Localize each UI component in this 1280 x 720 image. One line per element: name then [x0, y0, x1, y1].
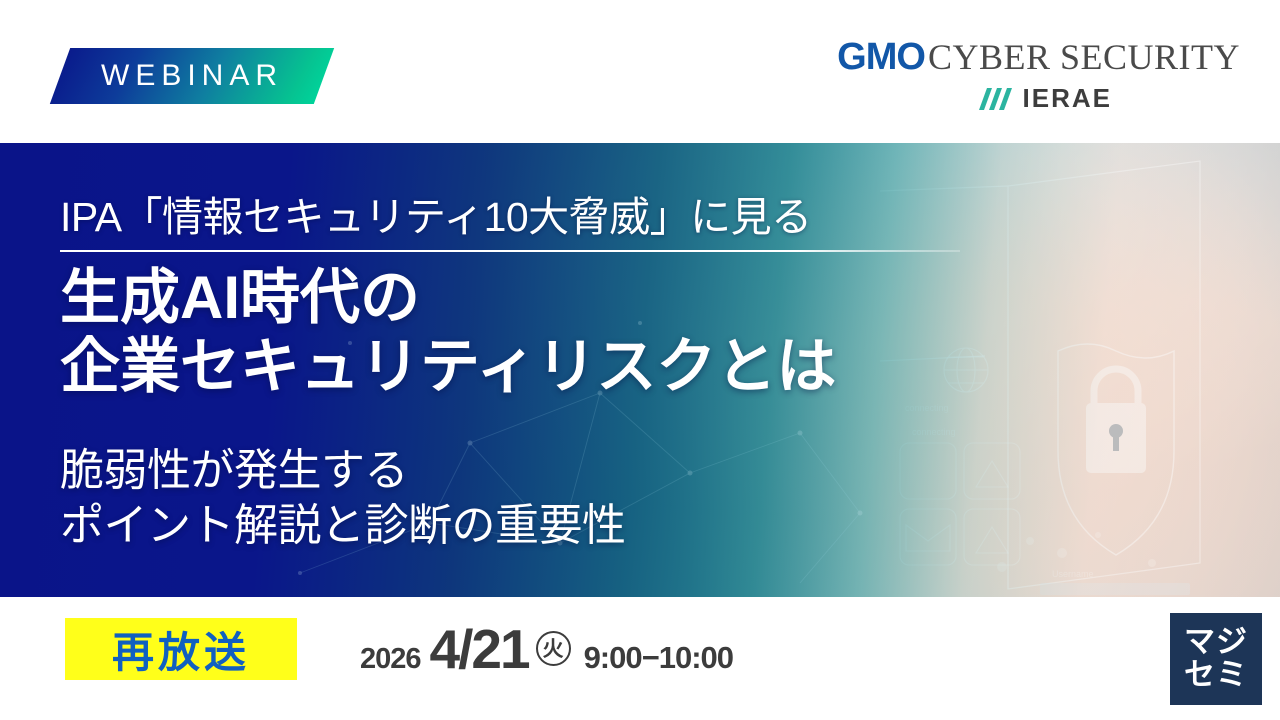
rerun-badge: 再放送 — [65, 618, 297, 680]
webinar-badge-label: WEBINAR — [101, 59, 283, 93]
banner-header: WEBINAR GMO CYBER SECURITY IERAE — [0, 0, 1280, 143]
hero-kicker: IPA「情報セキュリティ10大脅威」に見る — [60, 183, 812, 243]
hero-headline-line-1: 生成AI時代の — [60, 263, 960, 332]
ierae-slash-icon — [979, 88, 1015, 110]
majisemi-logo-line-1: マジ — [1184, 626, 1248, 659]
hero-headline-line-2: 企業セキュリティリスクとは — [60, 332, 960, 401]
event-day: 4/21 — [430, 617, 529, 681]
hero-headline: 生成AI時代の 企業セキュリティリスクとは — [60, 263, 960, 401]
logo-primary-line: GMO CYBER SECURITY — [820, 38, 1240, 76]
hero-band: connecting connecting Username — [0, 143, 1280, 597]
ierae-wordmark: IERAE — [1023, 83, 1112, 114]
webinar-banner: WEBINAR GMO CYBER SECURITY IERAE — [0, 0, 1280, 720]
hero-subheadline: 脆弱性が発生する ポイント解説と診断の重要性 — [60, 443, 960, 554]
webinar-badge: WEBINAR — [50, 48, 334, 104]
hero-subheadline-line-1: 脆弱性が発生する — [60, 443, 960, 498]
rerun-badge-label: 再放送 — [112, 619, 250, 680]
majisemi-logo-line-2: セミ — [1184, 659, 1248, 692]
event-weekday-badge: 火 — [536, 631, 571, 666]
hero-subheadline-line-2: ポイント解説と診断の重要性 — [60, 498, 960, 553]
hero-divider-rule — [60, 250, 960, 252]
event-time: 9:00−10:00 — [584, 640, 733, 676]
event-year: 2026 — [360, 643, 421, 676]
hero-text-block: IPA「情報セキュリティ10大脅威」に見る 生成AI時代の 企業セキュリティリス… — [60, 143, 960, 597]
gmo-wordmark: GMO — [837, 38, 925, 76]
gmo-cyber-security-logo: GMO CYBER SECURITY IERAE — [820, 38, 1240, 114]
banner-footer: 再放送 2026 4/21 火 9:00−10:00 マジ セミ — [0, 597, 1280, 720]
majisemi-logo: マジ セミ — [1170, 613, 1262, 705]
logo-secondary-line: IERAE — [820, 83, 1240, 114]
event-datetime: 2026 4/21 火 9:00−10:00 — [360, 617, 733, 679]
cyber-security-wordmark: CYBER SECURITY — [928, 39, 1240, 75]
